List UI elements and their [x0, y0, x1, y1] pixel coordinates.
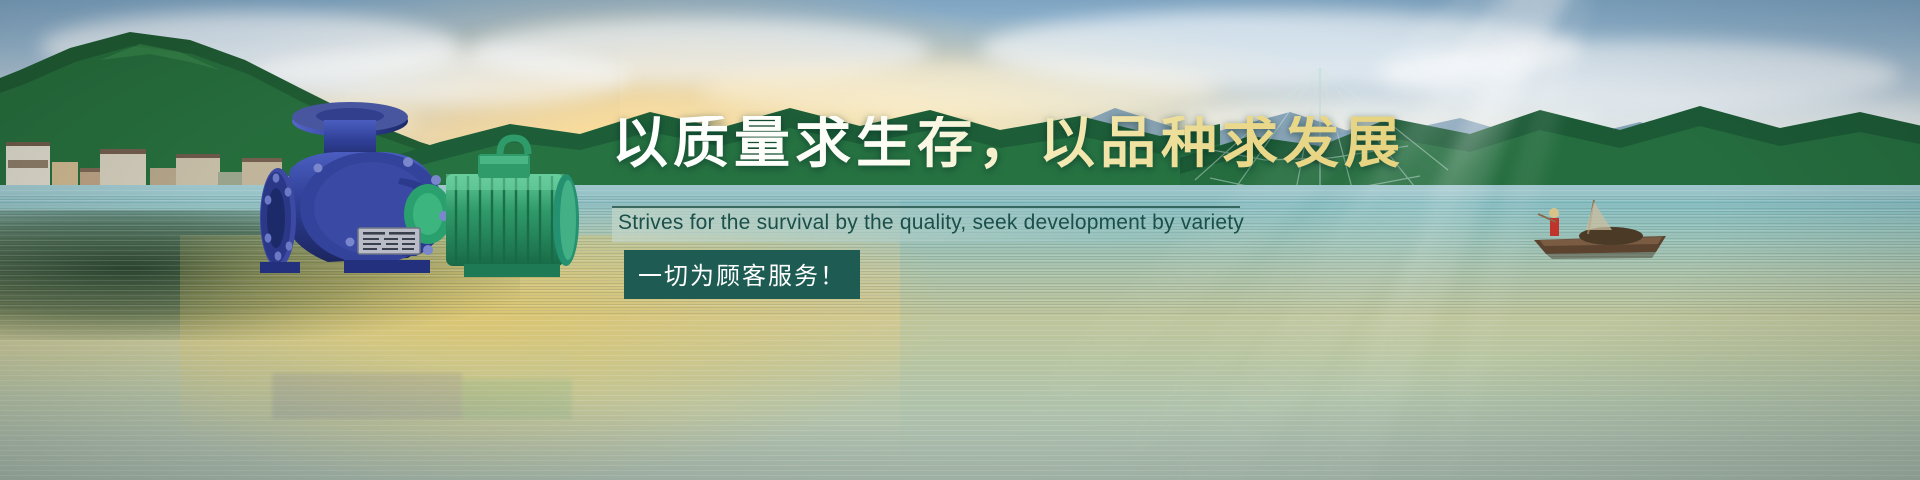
pump-water-reflection [232, 299, 592, 419]
promo-banner: 以质量求生存，以品种求发展 Strives for the survival b… [0, 0, 1920, 480]
banner-subtitle: Strives for the survival by the quality,… [618, 211, 1244, 235]
fisherman-boat [1516, 196, 1686, 264]
banner-headline: 以质量求生存，以品种求发展 [612, 116, 1405, 172]
banner-text-block: 以质量求生存，以品种求发展 Strives for the survival b… [612, 116, 1232, 246]
service-slogan-badge: 一切为顾客服务！ [624, 250, 860, 299]
service-slogan-text: 一切为顾客服务！ [638, 262, 846, 290]
centrifugal-pump-product [232, 96, 592, 301]
